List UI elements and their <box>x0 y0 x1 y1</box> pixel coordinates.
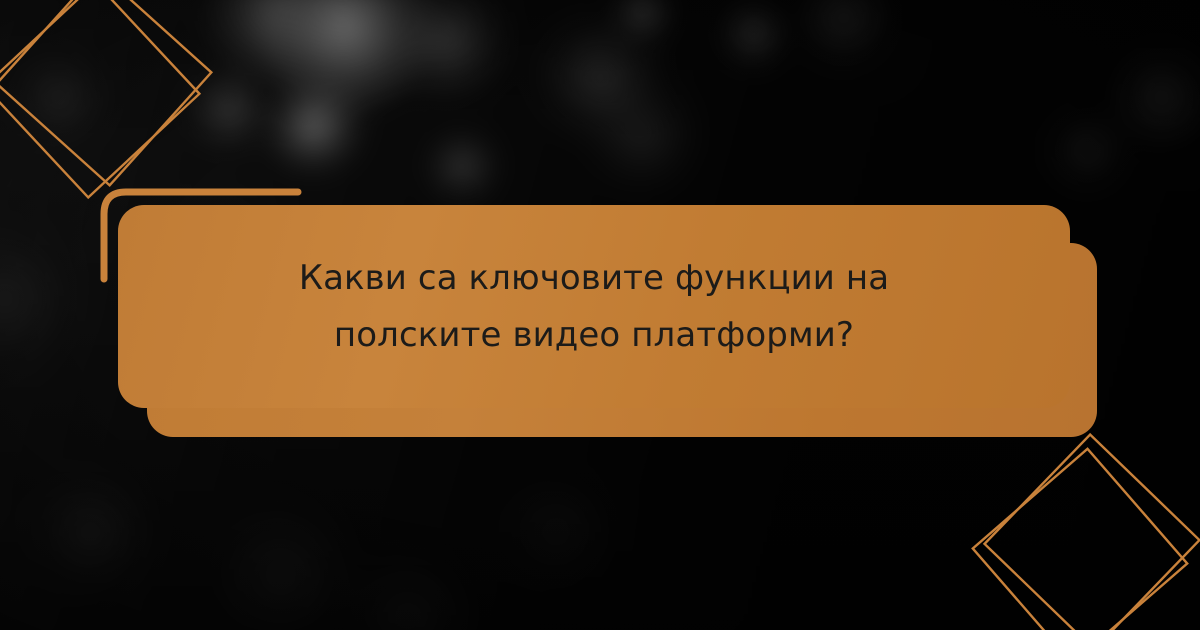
rotated-square-outline-b <box>0 0 199 197</box>
headline-container: Какви са ключовите функции на полските в… <box>118 205 1070 408</box>
rotated-square-outline-a <box>0 0 211 185</box>
quote-card-canvas: Какви са ключовите функции на полските в… <box>0 0 1200 630</box>
decoration-bottom-right-squares <box>972 432 1200 630</box>
headline-question: Какви са ключовите функции на полските в… <box>214 250 974 363</box>
rotated-square-outline-d <box>973 449 1187 630</box>
